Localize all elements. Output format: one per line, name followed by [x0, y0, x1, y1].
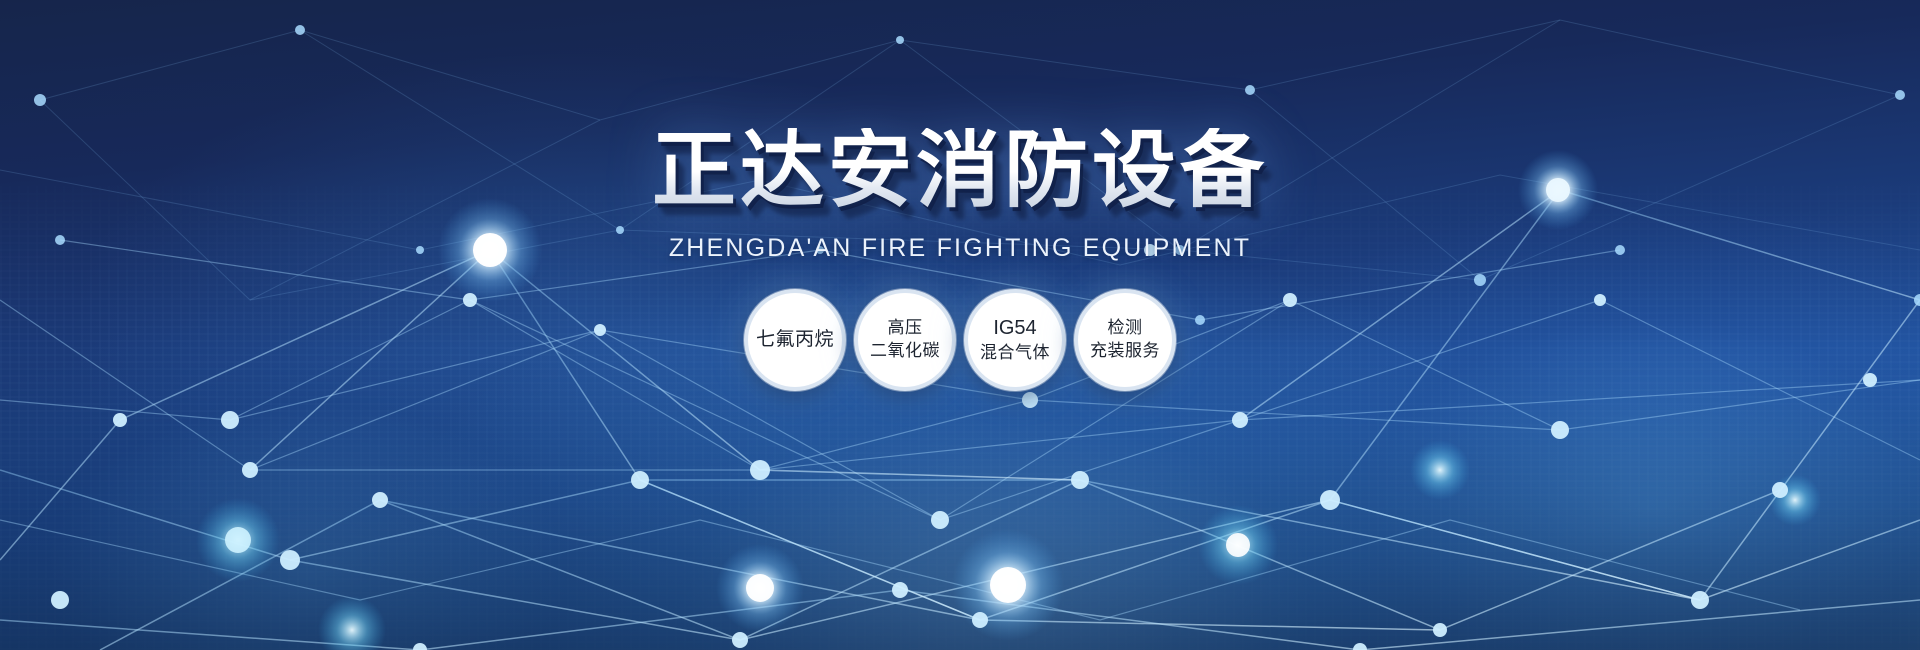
hero-banner: 正达安消防设备 ZHENGDA'AN FIRE FIGHTING EQUIPME… [0, 0, 1920, 650]
feature-circle-list: 七氟丙烷 高压 二氧化碳 IG54 混合气体 检测 充装服务 [744, 289, 1176, 391]
feature-circle-high-pressure-co2[interactable]: 高压 二氧化碳 [854, 289, 956, 391]
feature-circle-line1: 检测 [1108, 318, 1143, 339]
feature-circle-line1: 高压 [888, 318, 923, 339]
feature-circle-line2: 充装服务 [1090, 341, 1160, 362]
feature-circle-line2: 二氧化碳 [870, 341, 940, 362]
feature-circle-line1: IG54 [993, 316, 1036, 340]
feature-circle-line2: 混合气体 [980, 343, 1050, 364]
feature-circle-inspection-filling-service[interactable]: 检测 充装服务 [1074, 289, 1176, 391]
feature-circle-heptafluoropropane[interactable]: 七氟丙烷 [744, 289, 846, 391]
page-title: 正达安消防设备 [652, 128, 1268, 212]
banner-content: 正达安消防设备 ZHENGDA'AN FIRE FIGHTING EQUIPME… [0, 0, 1920, 650]
page-subtitle: ZHENGDA'AN FIRE FIGHTING EQUIPMENT [669, 234, 1251, 263]
feature-circle-ig54-mixed-gas[interactable]: IG54 混合气体 [964, 289, 1066, 391]
feature-circle-line1: 七氟丙烷 [756, 328, 834, 351]
